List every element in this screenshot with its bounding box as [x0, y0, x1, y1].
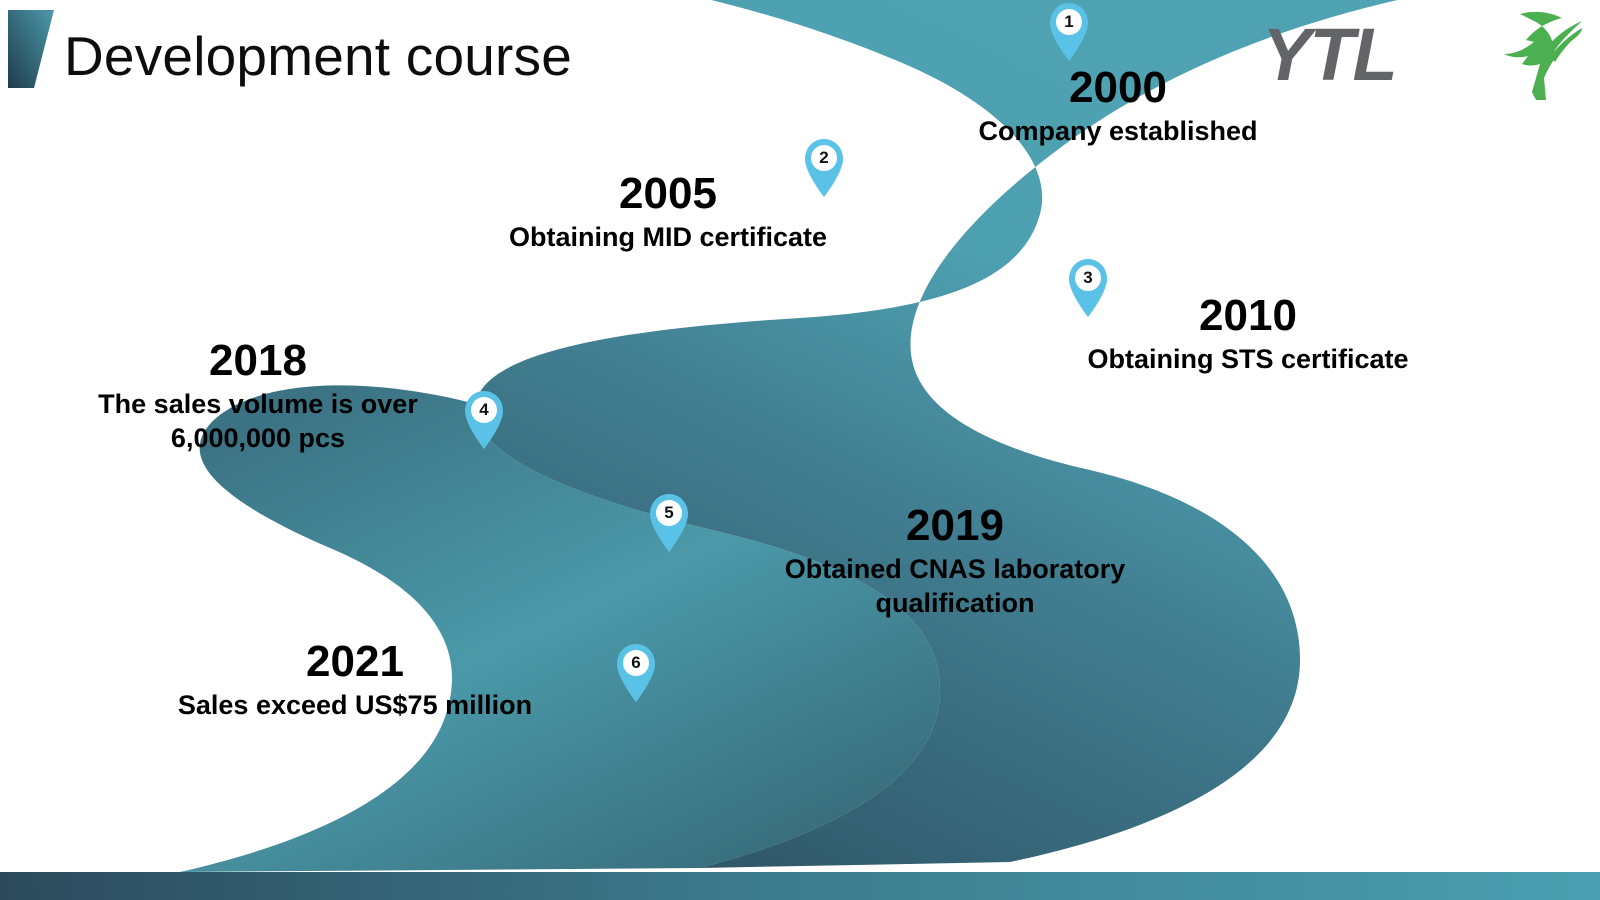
- title-accent-shape: [8, 10, 54, 88]
- map-pin-3[interactable]: 3: [1065, 258, 1111, 318]
- map-pin-number: 3: [1065, 265, 1111, 290]
- map-pin-number: 1: [1046, 9, 1092, 34]
- milestone-year: 2019: [755, 500, 1155, 552]
- map-pin-number: 2: [801, 145, 847, 170]
- milestone-description: Obtaining STS certificate: [1048, 342, 1448, 376]
- milestone-description: Obtaining MID certificate: [468, 220, 868, 254]
- bird-icon: [1450, 8, 1582, 100]
- milestone-5: 2019 Obtained CNAS laboratory qualificat…: [755, 500, 1155, 620]
- map-pin-6[interactable]: 6: [613, 643, 659, 703]
- milestone-description: The sales volume is over 6,000,000 pcs: [58, 387, 458, 455]
- map-pin-5[interactable]: 5: [646, 493, 692, 553]
- map-pin-2[interactable]: 2: [801, 138, 847, 198]
- map-pin-number: 5: [646, 500, 692, 525]
- map-pin-4[interactable]: 4: [461, 390, 507, 450]
- footer-bar: [0, 872, 1600, 900]
- slide-canvas: Development course YTL 2000 Company esta…: [0, 0, 1600, 900]
- milestone-description: Obtained CNAS laboratory qualification: [755, 552, 1155, 620]
- milestone-year: 2018: [58, 335, 458, 387]
- map-pin-number: 6: [613, 650, 659, 675]
- milestone-4: 2018 The sales volume is over 6,000,000 …: [58, 335, 458, 455]
- map-pin-number: 4: [461, 397, 507, 422]
- milestone-1: 2000 Company established: [918, 62, 1318, 148]
- milestone-year: 2000: [918, 62, 1318, 114]
- page-title: Development course: [64, 18, 572, 94]
- milestone-description: Sales exceed US$75 million: [155, 688, 555, 722]
- milestone-6: 2021 Sales exceed US$75 million: [155, 636, 555, 722]
- milestone-description: Company established: [918, 114, 1318, 148]
- milestone-year: 2021: [155, 636, 555, 688]
- map-pin-1[interactable]: 1: [1046, 2, 1092, 62]
